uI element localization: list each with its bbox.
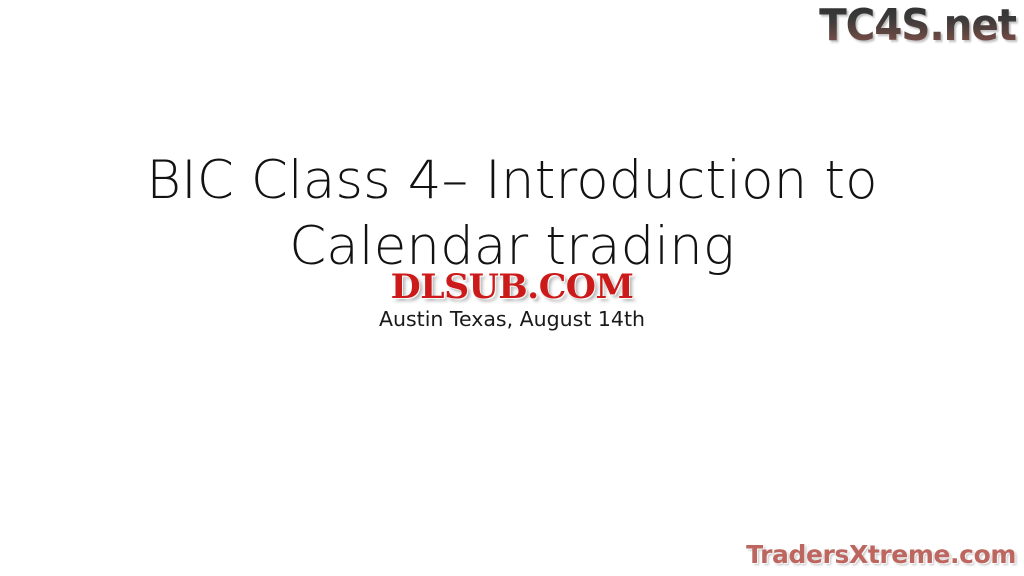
title-block: BIC Class 4– Introduction to Calendar tr… — [0, 148, 1024, 280]
presentation-slide: TC4S.net BIC Class 4– Introduction to Ca… — [0, 0, 1024, 576]
dlsub-com-watermark: DLSUB.COM — [391, 268, 634, 306]
tc4s-net-watermark: TC4S.net — [819, 1, 1016, 51]
subtitle-block: Austin Texas, August 14th — [0, 306, 1024, 332]
slide-subtitle: Austin Texas, August 14th — [0, 306, 1024, 332]
slide-title: BIC Class 4– Introduction to Calendar tr… — [0, 148, 1024, 280]
tradersxtreme-com-watermark: TradersXtreme.com — [746, 540, 1016, 570]
